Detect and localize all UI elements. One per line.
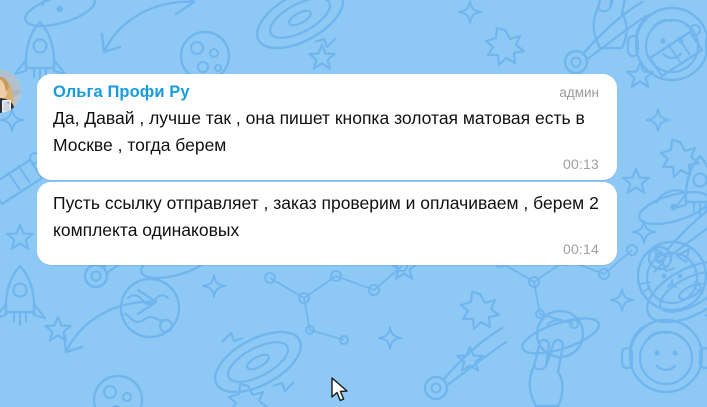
message-bubble[interactable]: Пусть ссылку отправляет , заказ проверим… [37, 182, 617, 265]
message-bubble[interactable]: Ольга Профи Ру админ Да, Давай , лучше т… [37, 74, 617, 180]
avatar[interactable] [0, 70, 21, 113]
bubble-header: Ольга Профи Ру админ [53, 83, 601, 102]
message-text: Да, Давай , лучше так , она пишет кнопка… [53, 105, 601, 159]
message-list: Ольга Профи Ру админ Да, Давай , лучше т… [0, 0, 707, 407]
sender-name[interactable]: Ольга Профи Ру [53, 83, 190, 102]
chat-window: Ольга Профи Ру админ Да, Давай , лучше т… [0, 0, 707, 407]
admin-badge: админ [559, 85, 601, 100]
avatar-photo [0, 70, 21, 113]
message-timestamp: 00:13 [563, 156, 601, 172]
message-text: Пусть ссылку отправляет , заказ проверим… [53, 190, 601, 244]
message-timestamp: 00:14 [563, 241, 601, 257]
